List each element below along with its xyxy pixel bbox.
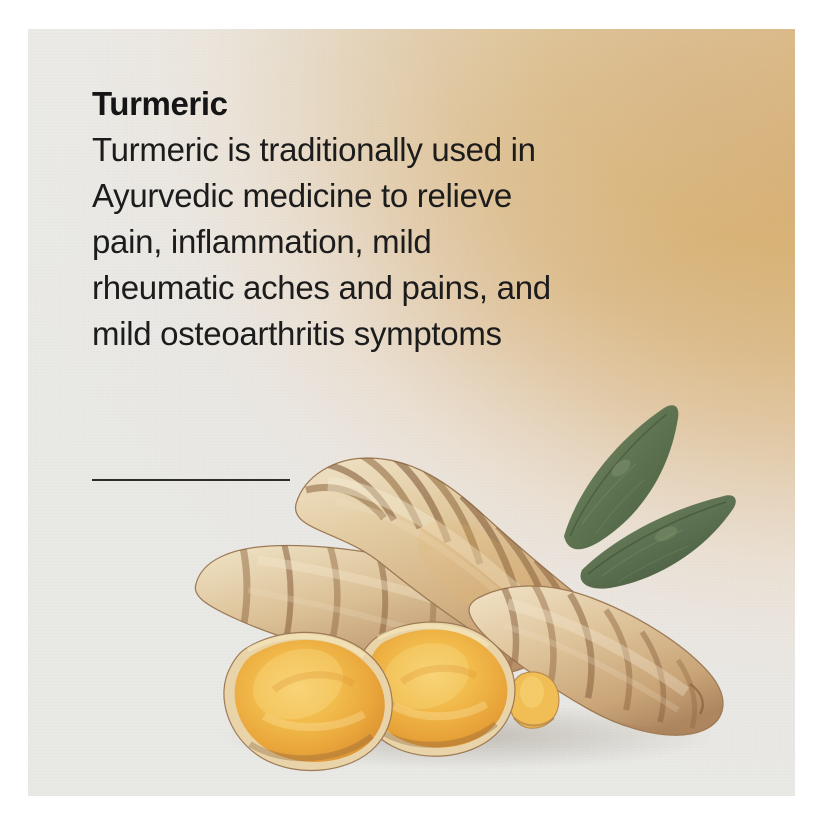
ingredient-card: Turmeric Turmeric is traditionally used … (28, 29, 795, 796)
divider-rule (92, 479, 290, 481)
small-nub (510, 672, 559, 728)
turmeric-illustration (178, 384, 738, 784)
text-block: Turmeric Turmeric is traditionally used … (92, 81, 652, 357)
ingredient-description: Turmeric is traditionally used in Ayurve… (92, 127, 562, 357)
card-frame: Turmeric Turmeric is traditionally used … (0, 0, 823, 823)
page-title: Turmeric (92, 81, 652, 127)
